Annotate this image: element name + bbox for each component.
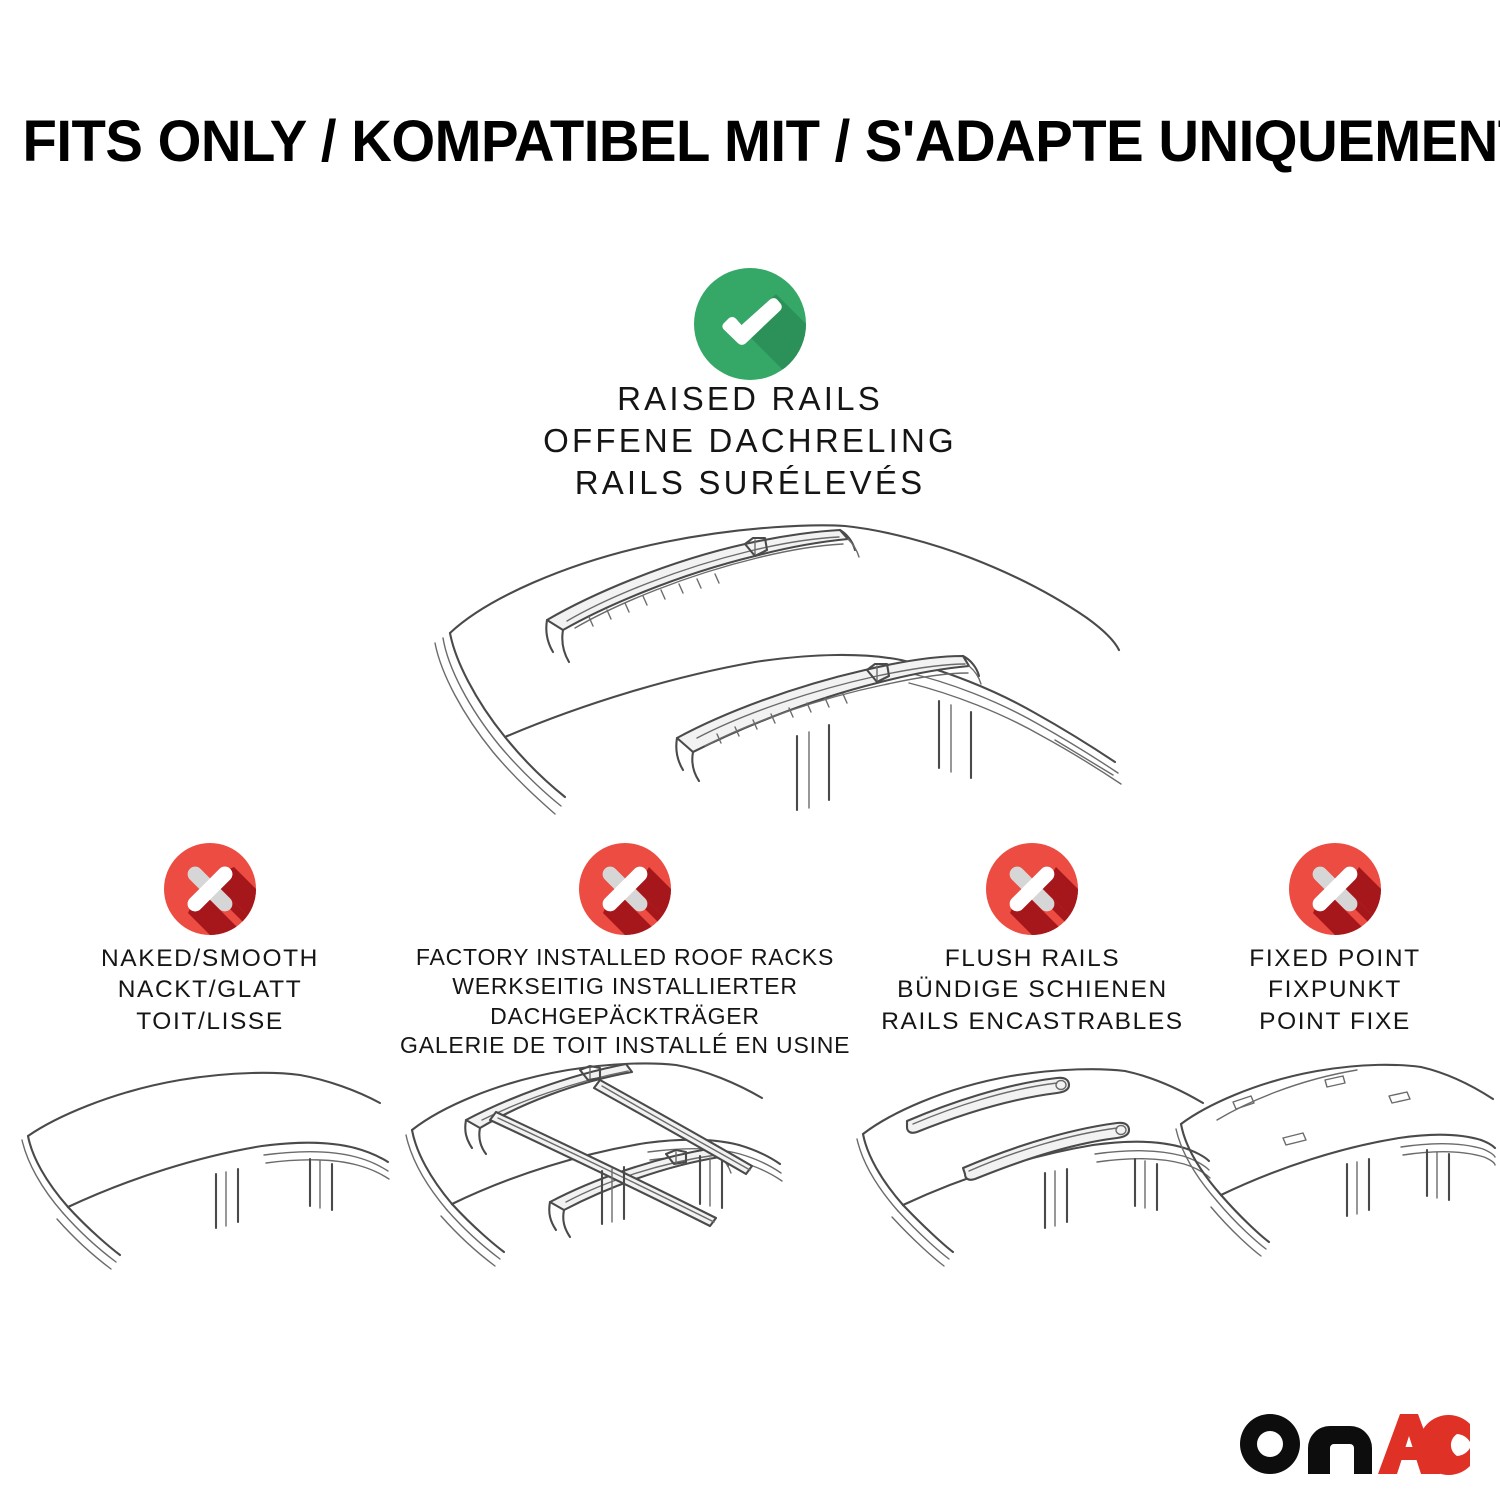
label-line-fr: GALERIE DE TOIT INSTALLÉ EN USINE xyxy=(400,1031,850,1060)
logo-letter-o xyxy=(1240,1414,1300,1474)
logo-letter-m xyxy=(1308,1426,1372,1474)
car-roof-with-raised-rails-illustration xyxy=(415,500,1125,840)
incompatible-label: FACTORY INSTALLED ROOF RACKS WERKSEITIG … xyxy=(400,943,850,1061)
label-line-fr: TOIT/LISSE xyxy=(20,1006,400,1037)
cross-circle-icon xyxy=(579,843,671,935)
omac-logo xyxy=(1238,1408,1470,1480)
incompatible-label: NAKED/SMOOTH NACKT/GLATT TOIT/LISSE xyxy=(20,943,400,1037)
compatible-label-line-en: RAISED RAILS xyxy=(0,378,1500,420)
label-line-en: FIXED POINT xyxy=(1175,943,1495,974)
compatible-label-line-fr: RAILS SURÉLEVÉS xyxy=(0,462,1500,504)
page-title: FITS ONLY / KOMPATIBEL MIT / S'ADAPTE UN… xyxy=(23,108,1478,175)
check-circle-icon xyxy=(694,268,806,380)
compatible-label: RAISED RAILS OFFENE DACHRELING RAILS SUR… xyxy=(0,378,1500,505)
label-line-de: NACKT/GLATT xyxy=(20,974,400,1005)
car-roof-factory-roof-racks-illustration xyxy=(400,1058,850,1298)
label-line-fr: POINT FIXE xyxy=(1175,1006,1495,1037)
label-line-en: NAKED/SMOOTH xyxy=(20,943,400,974)
label-line-en: FLUSH RAILS xyxy=(855,943,1210,974)
label-line-de-2: DACHGEPÄCKTRÄGER xyxy=(400,1002,850,1031)
cross-circle-icon xyxy=(986,843,1078,935)
cross-circle-icon xyxy=(1289,843,1381,935)
label-line-fr: RAILS ENCASTRABLES xyxy=(855,1006,1210,1037)
incompatible-label: FIXED POINT FIXPUNKT POINT FIXE xyxy=(1175,943,1495,1037)
incompatible-label: FLUSH RAILS BÜNDIGE SCHIENEN RAILS ENCAS… xyxy=(855,943,1210,1037)
label-line-en: FACTORY INSTALLED ROOF RACKS xyxy=(400,943,850,972)
car-roof-flush-rails-illustration xyxy=(855,1058,1210,1298)
label-line-de: FIXPUNKT xyxy=(1175,974,1495,1005)
label-line-de: BÜNDIGE SCHIENEN xyxy=(855,974,1210,1005)
car-roof-fixed-point-illustration xyxy=(1175,1058,1495,1298)
cross-circle-icon xyxy=(164,843,256,935)
fitment-info-graphic: FITS ONLY / KOMPATIBEL MIT / S'ADAPTE UN… xyxy=(0,0,1500,1500)
car-roof-naked-smooth-illustration xyxy=(20,1058,400,1298)
compatible-label-line-de: OFFENE DACHRELING xyxy=(0,420,1500,462)
label-line-de-1: WERKSEITIG INSTALLIERTER xyxy=(400,972,850,1001)
